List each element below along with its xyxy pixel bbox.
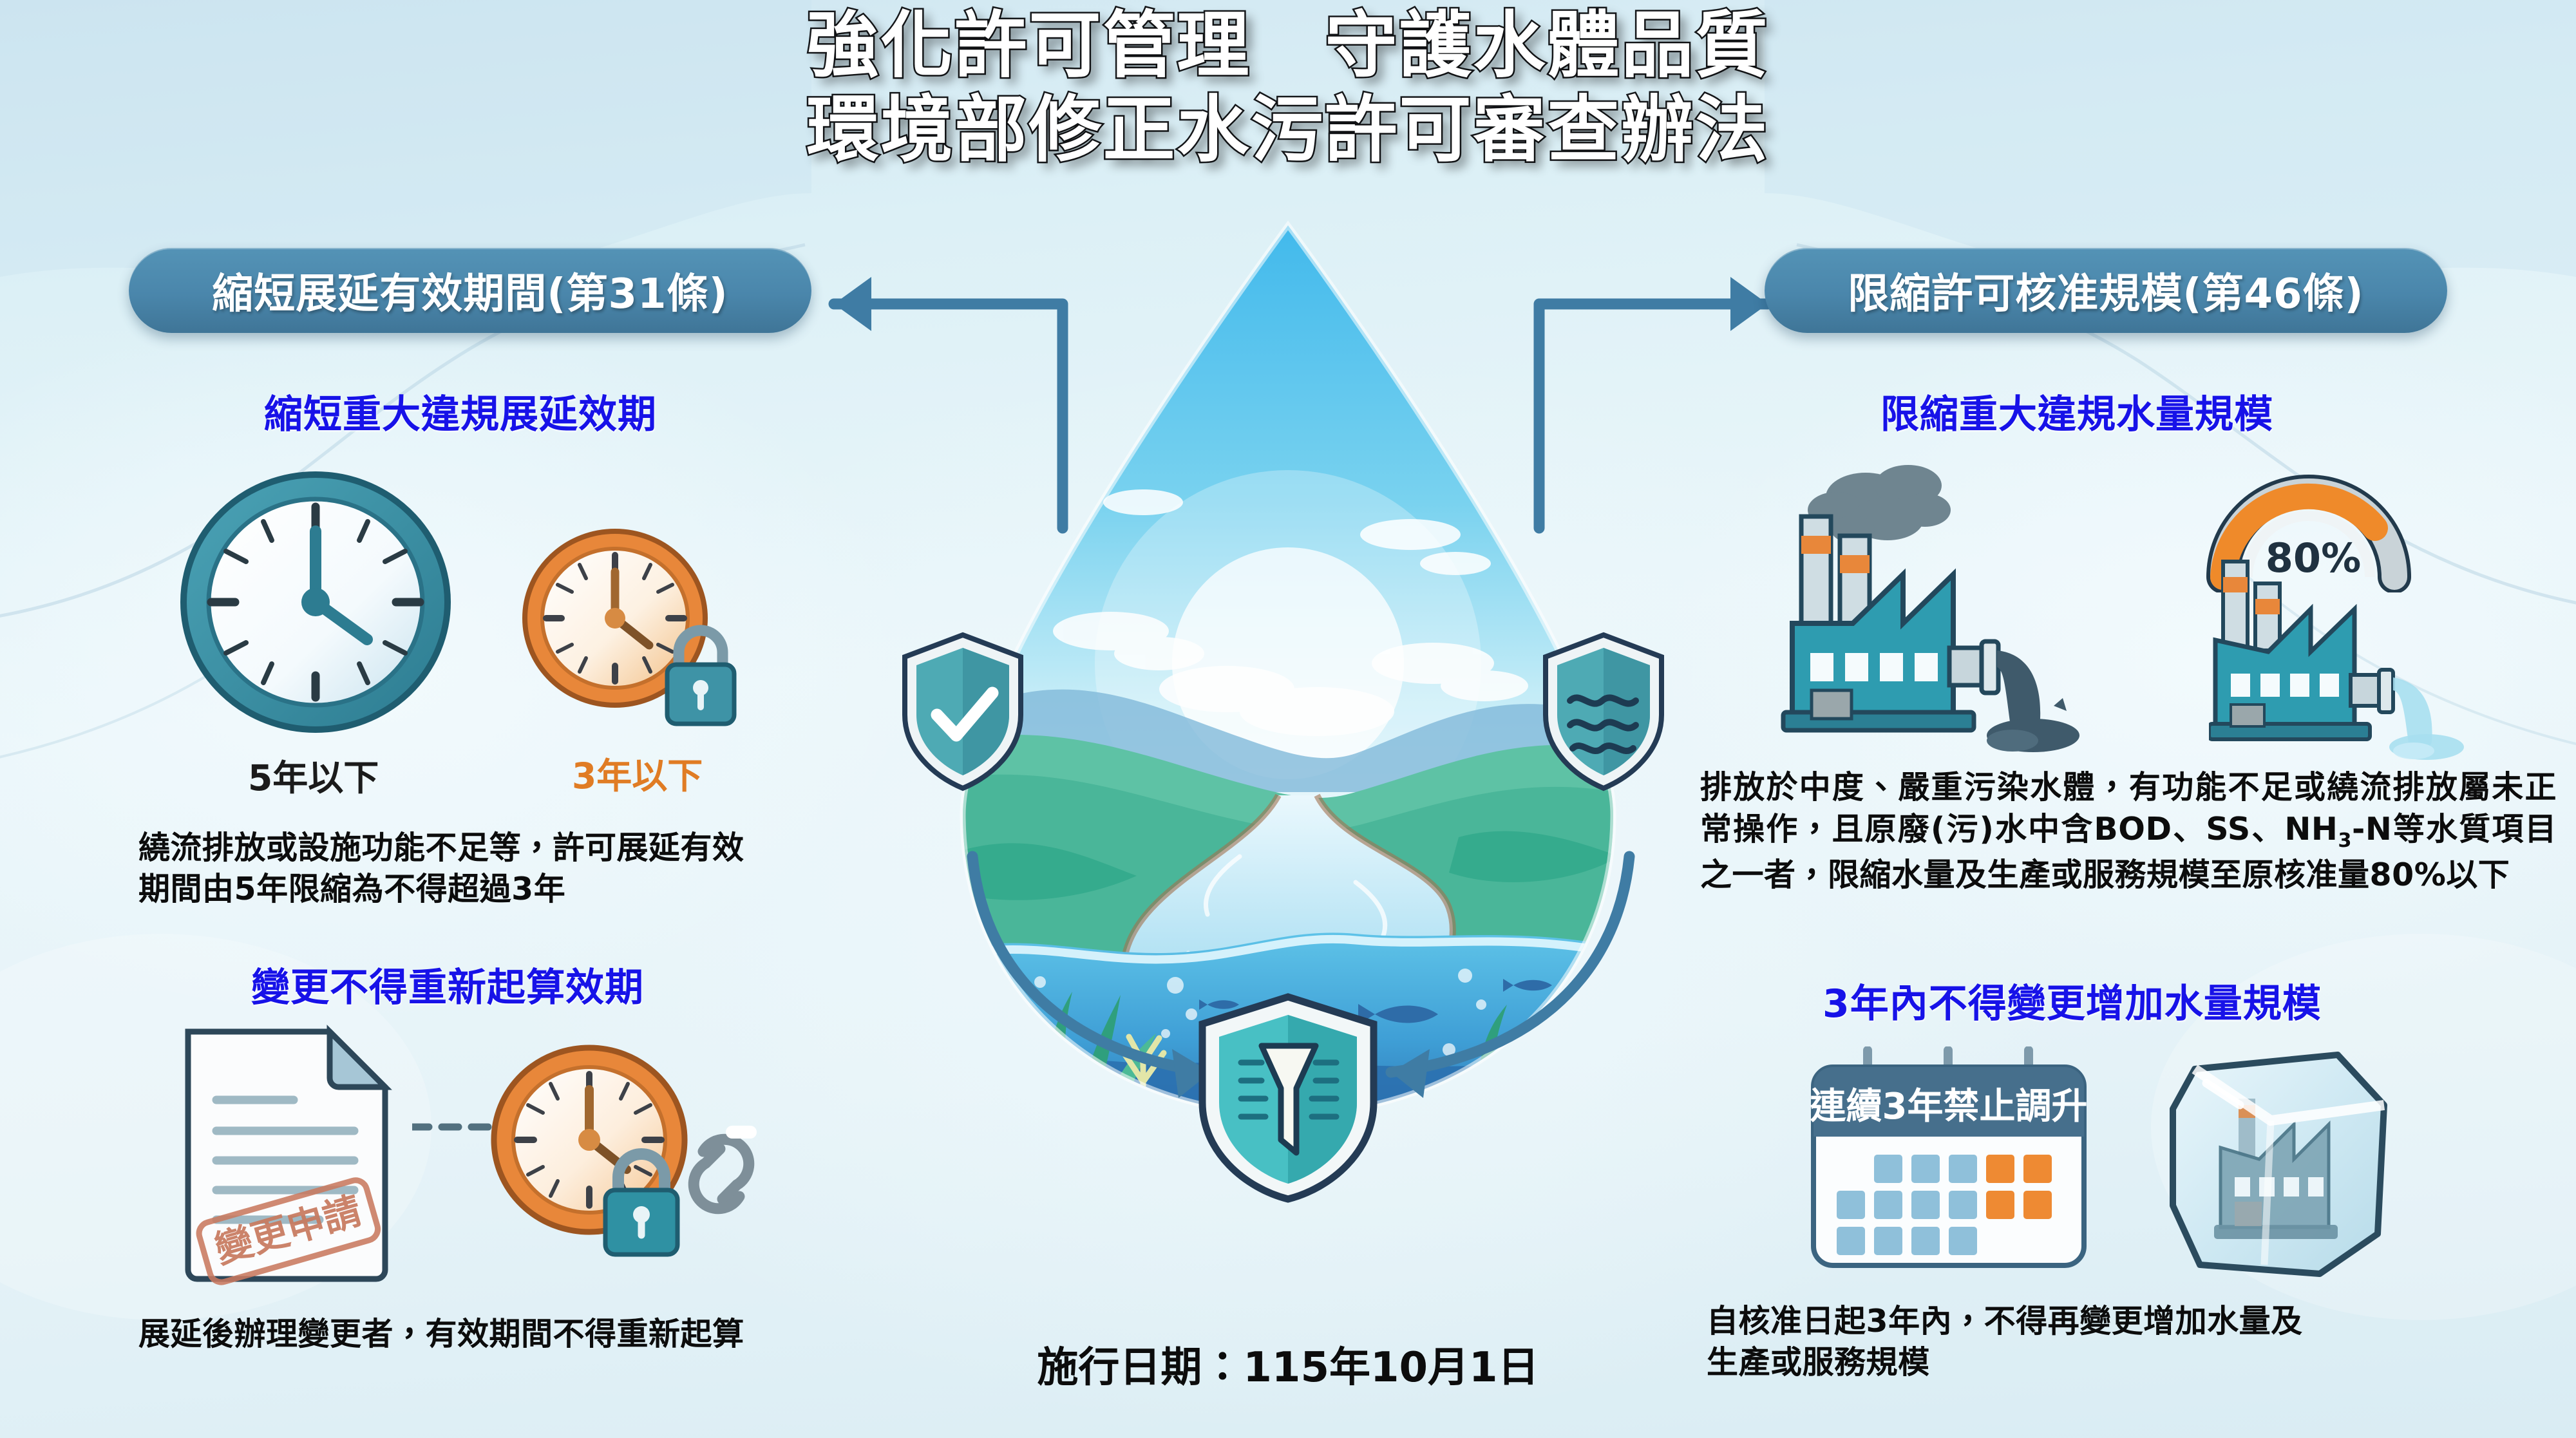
clock-large-icon — [171, 467, 460, 737]
ice-cube-factory-icon — [2145, 1043, 2415, 1288]
left-section1-heading: 縮短重大違規展延效期 — [264, 383, 657, 439]
clock-lock-icon — [515, 522, 760, 734]
left-section2-body: 展延後辦理變更者，有效期間不得重新起算 — [138, 1314, 963, 1355]
factory-polluting-icon — [1781, 457, 2193, 753]
shield-check-icon — [898, 631, 1027, 792]
clock-lock-chain-icon — [412, 1030, 811, 1301]
title-line-1: 強化許可管理 守護水體品質 — [0, 4, 2576, 88]
effective-date-label: 施行日期：115年10月1日 — [966, 1334, 1610, 1394]
page-title: 強化許可管理 守護水體品質 環境部修正水污許可審查辦法 — [0, 4, 2576, 173]
banner-right[interactable]: 限縮許可核准規模(第46條) — [1765, 248, 2447, 333]
clock-small-label: 3年以下 — [572, 747, 703, 799]
clock-large-label: 5年以下 — [248, 749, 379, 800]
banner-left-label: 縮短展延有效期間(第31條) — [212, 261, 728, 320]
right-body-subscript: 3 — [2338, 829, 2352, 852]
right-section2-heading: 3年內不得變更增加水量規模 — [1823, 972, 2322, 1028]
shield-waves-icon — [1539, 631, 1668, 792]
calendar-banner-label: 連續3年禁止調升 — [1810, 1086, 2088, 1128]
factory-clean-icon — [2209, 554, 2531, 766]
right-section1-heading: 限縮重大違規水量規模 — [1880, 383, 2273, 439]
right-section2-body: 自核准日起3年內，不得再變更增加水量及 生產或服務規模 — [1707, 1301, 2537, 1383]
shield-filter-icon — [1195, 992, 1381, 1204]
banner-left[interactable]: 縮短展延有效期間(第31條) — [129, 248, 811, 333]
left-section1-body: 繞流排放或設施功能不足等，許可展延有效 期間由5年限縮為不得超過3年 — [138, 828, 911, 909]
infographic-canvas: 強化許可管理 守護水體品質 環境部修正水污許可審查辦法 — [0, 0, 2576, 1438]
title-line-2: 環境部修正水污許可審查辦法 — [0, 88, 2576, 173]
calendar-icon: 連續3年禁止調升 — [1797, 1046, 2119, 1278]
left-section2-heading: 變更不得重新起算效期 — [251, 956, 644, 1012]
right-section1-body: 排放於中度、嚴重污染水體，有功能不足或繞流排放屬未正常操作，且原廢(污)水中含B… — [1700, 766, 2557, 896]
document-stamp-icon: 變更申請 — [161, 1017, 431, 1288]
banner-right-label: 限縮許可核准規模(第46條) — [1848, 261, 2364, 320]
